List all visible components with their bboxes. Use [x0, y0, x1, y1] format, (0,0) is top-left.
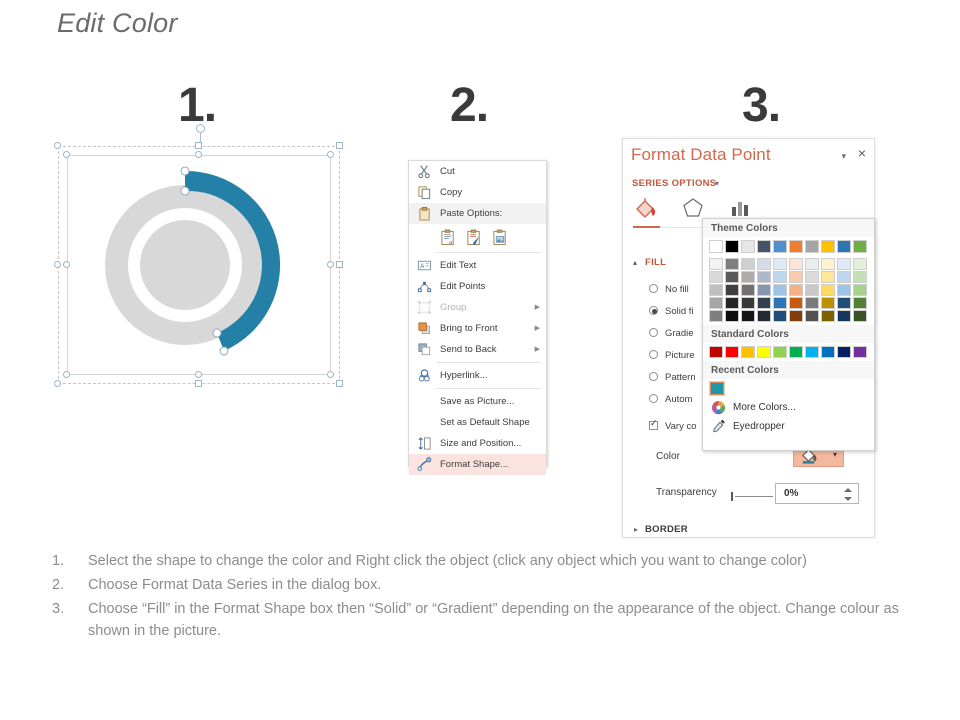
- theme-colors-heading: Theme Colors: [703, 219, 874, 237]
- format-shape-icon: [417, 457, 432, 472]
- theme-shade-swatch[interactable]: [725, 310, 739, 322]
- recent-colors-heading: Recent Colors: [703, 361, 874, 379]
- theme-shade-swatch[interactable]: [757, 258, 771, 270]
- radio-pattern-fill[interactable]: [649, 372, 658, 381]
- transparency-stepper[interactable]: [844, 486, 853, 503]
- fill-option-picture-fill[interactable]: Picture: [649, 350, 695, 361]
- transparency-label: Transparency: [656, 487, 717, 498]
- send-back-icon: [417, 342, 432, 357]
- context-menu-label: Paste Options:: [440, 208, 502, 219]
- step-number-2: 2.: [450, 78, 488, 133]
- theme-shade-swatch[interactable]: [741, 284, 755, 296]
- theme-shade-swatch[interactable]: [853, 271, 867, 283]
- fill-section-heading[interactable]: FILL: [645, 257, 666, 268]
- toolbar-selected-underline: [633, 226, 660, 228]
- checkbox-vary-colors[interactable]: [649, 421, 658, 430]
- context-menu-label: Save as Picture...: [440, 396, 514, 407]
- theme-shade-swatch[interactable]: [757, 284, 771, 296]
- segment-handle-top-inner: [181, 187, 189, 195]
- radio-automatic[interactable]: [649, 394, 658, 403]
- context-menu-separator: [437, 362, 540, 363]
- fill-option-automatic[interactable]: Autom: [649, 394, 692, 405]
- pane-title: Format Data Point: [631, 145, 771, 165]
- context-menu-label: Send to Back: [440, 344, 497, 355]
- submenu-arrow-icon: ▶: [535, 318, 540, 339]
- standard-color-swatch[interactable]: [709, 346, 723, 358]
- context-menu-item-save-as-picture[interactable]: Save as Picture...: [409, 391, 546, 412]
- theme-shade-swatch[interactable]: [709, 284, 723, 296]
- instruction-number: 3.: [52, 598, 88, 642]
- fill-option-gradient-fill[interactable]: Gradie: [649, 328, 694, 339]
- fill-option-label: Solid fi: [665, 306, 694, 317]
- context-menu-label: Copy: [440, 187, 462, 198]
- context-menu-item-format-shape[interactable]: Format Shape...: [409, 454, 546, 475]
- close-icon[interactable]: ×: [858, 146, 866, 160]
- theme-shade-swatch[interactable]: [757, 271, 771, 283]
- theme-shade-swatch[interactable]: [805, 284, 819, 296]
- theme-shade-swatch[interactable]: [805, 297, 819, 309]
- theme-colors-row-shade-4[interactable]: [709, 297, 874, 309]
- donut-chart[interactable]: [67, 155, 331, 375]
- theme-shade-swatch[interactable]: [837, 271, 851, 283]
- color-row-label: Color: [656, 451, 680, 462]
- standard-color-swatch[interactable]: [757, 346, 771, 358]
- transparency-input[interactable]: 0%: [775, 483, 859, 504]
- color-dropdown-caret-icon[interactable]: ▾: [833, 450, 837, 459]
- page-title: Edit Color: [57, 8, 178, 39]
- context-menu-label: Edit Text: [440, 260, 476, 271]
- group-icon: [417, 300, 432, 315]
- theme-color-swatch[interactable]: [837, 240, 851, 253]
- theme-color-swatch[interactable]: [741, 240, 755, 253]
- slider-track: [735, 496, 773, 497]
- theme-shade-swatch[interactable]: [709, 297, 723, 309]
- theme-shade-swatch[interactable]: [789, 297, 803, 309]
- theme-colors-row-shade-1[interactable]: [709, 258, 874, 270]
- fill-option-solid-fill[interactable]: Solid fi: [649, 306, 694, 317]
- theme-shade-swatch[interactable]: [837, 258, 851, 270]
- instruction-item: 2. Choose Format Data Series in the dial…: [52, 574, 912, 596]
- theme-shade-swatch[interactable]: [741, 297, 755, 309]
- fill-expand-triangle-icon[interactable]: ▴: [633, 258, 637, 267]
- standard-color-swatch[interactable]: [741, 346, 755, 358]
- theme-color-swatch[interactable]: [757, 240, 771, 253]
- recent-colors-grid[interactable]: [703, 379, 874, 398]
- theme-shade-swatch[interactable]: [789, 310, 803, 322]
- theme-shade-swatch[interactable]: [773, 310, 787, 322]
- theme-shade-swatch[interactable]: [773, 284, 787, 296]
- fill-option-pattern-fill[interactable]: Pattern: [649, 372, 696, 383]
- standard-colors-heading: Standard Colors: [703, 325, 874, 343]
- theme-shade-swatch[interactable]: [725, 297, 739, 309]
- theme-color-swatch[interactable]: [821, 240, 835, 253]
- theme-shade-swatch[interactable]: [853, 297, 867, 309]
- standard-color-swatch[interactable]: [821, 346, 835, 358]
- theme-shade-swatch[interactable]: [805, 310, 819, 322]
- theme-shade-swatch[interactable]: [725, 258, 739, 270]
- theme-shade-swatch[interactable]: [773, 297, 787, 309]
- standard-color-swatch[interactable]: [773, 346, 787, 358]
- chevron-down-icon[interactable]: ▾: [715, 179, 719, 188]
- submenu-arrow-icon: ▶: [535, 297, 540, 318]
- theme-shade-swatch[interactable]: [789, 271, 803, 283]
- radio-gradient-fill[interactable]: [649, 328, 658, 337]
- resize-handle-w[interactable]: [54, 261, 61, 268]
- theme-color-swatch[interactable]: [789, 240, 803, 253]
- step-number-3: 3.: [742, 78, 780, 133]
- instruction-number: 1.: [52, 550, 88, 572]
- theme-shade-swatch[interactable]: [837, 310, 851, 322]
- theme-color-swatch[interactable]: [725, 240, 739, 253]
- radio-no-fill[interactable]: [649, 284, 658, 293]
- paste-keep-text-icon[interactable]: a: [440, 229, 457, 246]
- eyedropper-icon: [711, 419, 726, 434]
- context-menu-item-send-to-back[interactable]: Send to Back ▶: [409, 339, 546, 360]
- context-menu-label: Set as Default Shape: [440, 417, 530, 428]
- context-menu-item-group: Group ▶: [409, 297, 546, 318]
- theme-shade-swatch[interactable]: [757, 297, 771, 309]
- resize-handle-e[interactable]: [336, 261, 343, 268]
- theme-color-swatch[interactable]: [805, 240, 819, 253]
- theme-shade-swatch[interactable]: [837, 297, 851, 309]
- theme-color-swatch[interactable]: [853, 240, 867, 253]
- theme-colors-row-shade-3[interactable]: [709, 284, 874, 296]
- fill-option-label: Pattern: [665, 372, 696, 383]
- donut-chart-svg: [67, 155, 331, 375]
- fill-option-label: Picture: [665, 350, 695, 361]
- theme-shade-swatch[interactable]: [805, 258, 819, 270]
- theme-shade-swatch[interactable]: [709, 310, 723, 322]
- instruction-text: Choose Format Data Series in the dialog …: [88, 574, 912, 596]
- fill-option-label: Autom: [665, 394, 692, 405]
- theme-shade-swatch[interactable]: [805, 271, 819, 283]
- theme-shade-swatch[interactable]: [709, 258, 723, 270]
- standard-color-swatch[interactable]: [789, 346, 803, 358]
- radio-solid-fill[interactable]: [649, 306, 658, 315]
- resize-handle-nw[interactable]: [54, 142, 61, 149]
- recent-color-swatch[interactable]: [710, 382, 724, 395]
- context-menu-label: Cut: [440, 166, 455, 177]
- theme-color-swatch[interactable]: [709, 240, 723, 253]
- resize-handle-ne[interactable]: [336, 142, 343, 149]
- context-menu-item-size-and-position[interactable]: Size and Position...: [409, 433, 546, 454]
- context-menu-label: Size and Position...: [440, 438, 521, 449]
- paste-picture-icon[interactable]: [492, 229, 509, 246]
- theme-shade-swatch[interactable]: [789, 258, 803, 270]
- hyperlink-icon: [417, 368, 432, 383]
- scissors-icon: [417, 164, 432, 179]
- standard-colors-grid[interactable]: [703, 343, 874, 361]
- stepper-down-icon[interactable]: [844, 497, 852, 501]
- theme-shade-swatch[interactable]: [741, 271, 755, 283]
- color-picker-dropdown[interactable]: Theme Colors Standard Colors Recent Colo…: [702, 218, 875, 451]
- border-section-heading[interactable]: BORDER: [645, 524, 688, 535]
- theme-shade-swatch[interactable]: [725, 271, 739, 283]
- color-wheel-icon: [711, 400, 726, 415]
- instruction-text: Choose “Fill” in the Format Shape box th…: [88, 598, 912, 642]
- theme-shade-swatch[interactable]: [741, 258, 755, 270]
- theme-colors-row-shade-2[interactable]: [709, 271, 874, 283]
- shape-context-menu[interactable]: Cut Copy Paste Options: a: [408, 160, 547, 467]
- theme-shade-swatch[interactable]: [725, 284, 739, 296]
- context-menu-item-hyperlink[interactable]: Hyperlink...: [409, 365, 546, 386]
- vary-colors-checkbox-row[interactable]: Vary co: [649, 421, 697, 432]
- paste-formatting-icon[interactable]: [466, 229, 483, 246]
- transparency-slider[interactable]: [731, 492, 773, 501]
- theme-shade-swatch[interactable]: [821, 284, 835, 296]
- series-options-label[interactable]: SERIES OPTIONS: [632, 178, 716, 189]
- theme-shade-swatch[interactable]: [821, 271, 835, 283]
- standard-color-swatch[interactable]: [805, 346, 819, 358]
- eyedropper-item[interactable]: Eyedropper: [703, 417, 874, 436]
- instruction-item: 1. Select the shape to change the color …: [52, 550, 912, 572]
- paste-icon: [417, 206, 432, 221]
- instruction-list: 1. Select the shape to change the color …: [52, 550, 912, 644]
- instruction-number: 2.: [52, 574, 88, 596]
- theme-shade-swatch[interactable]: [773, 258, 787, 270]
- context-menu-label: Format Shape...: [440, 459, 508, 470]
- theme-color-swatch[interactable]: [773, 240, 787, 253]
- segment-handle-top-outer: [181, 167, 189, 175]
- submenu-arrow-icon: ▶: [535, 339, 540, 360]
- theme-colors-row-shade-5[interactable]: [709, 310, 874, 322]
- theme-shade-swatch[interactable]: [821, 310, 835, 322]
- theme-shade-swatch[interactable]: [789, 284, 803, 296]
- edit-text-icon: A: [417, 258, 432, 273]
- segment-handle-bottom-outer: [220, 347, 228, 355]
- radio-picture-fill[interactable]: [649, 350, 658, 359]
- eyedropper-label: Eyedropper: [733, 421, 785, 432]
- copy-icon: [417, 185, 432, 200]
- resize-handle-se[interactable]: [336, 380, 343, 387]
- fill-option-no-fill[interactable]: No fill: [649, 284, 689, 295]
- vary-colors-label: Vary co: [665, 421, 697, 432]
- resize-handle-s[interactable]: [195, 380, 202, 387]
- context-menu-item-edit-text[interactable]: A Edit Text: [409, 255, 546, 276]
- theme-shade-swatch[interactable]: [837, 284, 851, 296]
- context-menu-item-bring-to-front[interactable]: Bring to Front ▶: [409, 318, 546, 339]
- context-menu-separator: [437, 252, 540, 253]
- theme-shade-swatch[interactable]: [757, 310, 771, 322]
- bring-front-icon: [417, 321, 432, 336]
- context-menu-separator: [437, 388, 540, 389]
- resize-handle-sw[interactable]: [54, 380, 61, 387]
- theme-shade-swatch[interactable]: [821, 258, 835, 270]
- theme-shade-swatch[interactable]: [821, 297, 835, 309]
- standard-colors-row[interactable]: [709, 346, 874, 358]
- segment-handle-bottom-inner: [213, 329, 221, 337]
- theme-shade-swatch[interactable]: [853, 284, 867, 296]
- border-expand-triangle-icon[interactable]: ▸: [634, 525, 638, 534]
- theme-shade-swatch[interactable]: [853, 258, 867, 270]
- instruction-item: 3. Choose “Fill” in the Format Shape box…: [52, 598, 912, 642]
- more-colors-label: More Colors...: [733, 402, 796, 413]
- paste-options-row[interactable]: a: [409, 224, 546, 250]
- theme-shade-swatch[interactable]: [709, 271, 723, 283]
- context-menu-item-copy[interactable]: Copy: [409, 182, 546, 203]
- standard-color-swatch[interactable]: [837, 346, 851, 358]
- context-menu-label: Group: [440, 302, 466, 313]
- context-menu-label: Edit Points: [440, 281, 485, 292]
- standard-color-swatch[interactable]: [725, 346, 739, 358]
- context-menu-label: Hyperlink...: [440, 370, 488, 381]
- slider-knob[interactable]: [731, 492, 733, 501]
- context-menu-item-set-default-shape[interactable]: Set as Default Shape: [409, 412, 546, 433]
- stepper-up-icon[interactable]: [844, 488, 852, 492]
- theme-shade-swatch[interactable]: [741, 310, 755, 322]
- fill-option-label: Gradie: [665, 328, 694, 339]
- resize-handle-n[interactable]: [195, 142, 202, 149]
- context-menu-item-cut[interactable]: Cut: [409, 161, 546, 182]
- context-menu-label: Bring to Front: [440, 323, 498, 334]
- theme-colors-row-base[interactable]: [709, 240, 874, 253]
- instruction-text: Select the shape to change the color and…: [88, 550, 912, 572]
- standard-color-swatch[interactable]: [853, 346, 867, 358]
- fill-bucket-icon[interactable]: [633, 195, 659, 221]
- edit-points-icon: [417, 279, 432, 294]
- pane-menu-caret-icon[interactable]: ▾: [841, 151, 846, 162]
- context-menu-item-edit-points[interactable]: Edit Points: [409, 276, 546, 297]
- context-menu-item-paste-options: Paste Options:: [409, 203, 546, 224]
- chart-selection-frame[interactable]: [58, 146, 340, 384]
- more-colors-item[interactable]: More Colors...: [703, 398, 874, 417]
- theme-shade-swatch[interactable]: [773, 271, 787, 283]
- fill-option-label: No fill: [665, 284, 689, 295]
- theme-shade-swatch[interactable]: [853, 310, 867, 322]
- theme-colors-grid[interactable]: [703, 237, 874, 325]
- transparency-value: 0%: [784, 488, 798, 499]
- size-position-icon: [417, 436, 432, 451]
